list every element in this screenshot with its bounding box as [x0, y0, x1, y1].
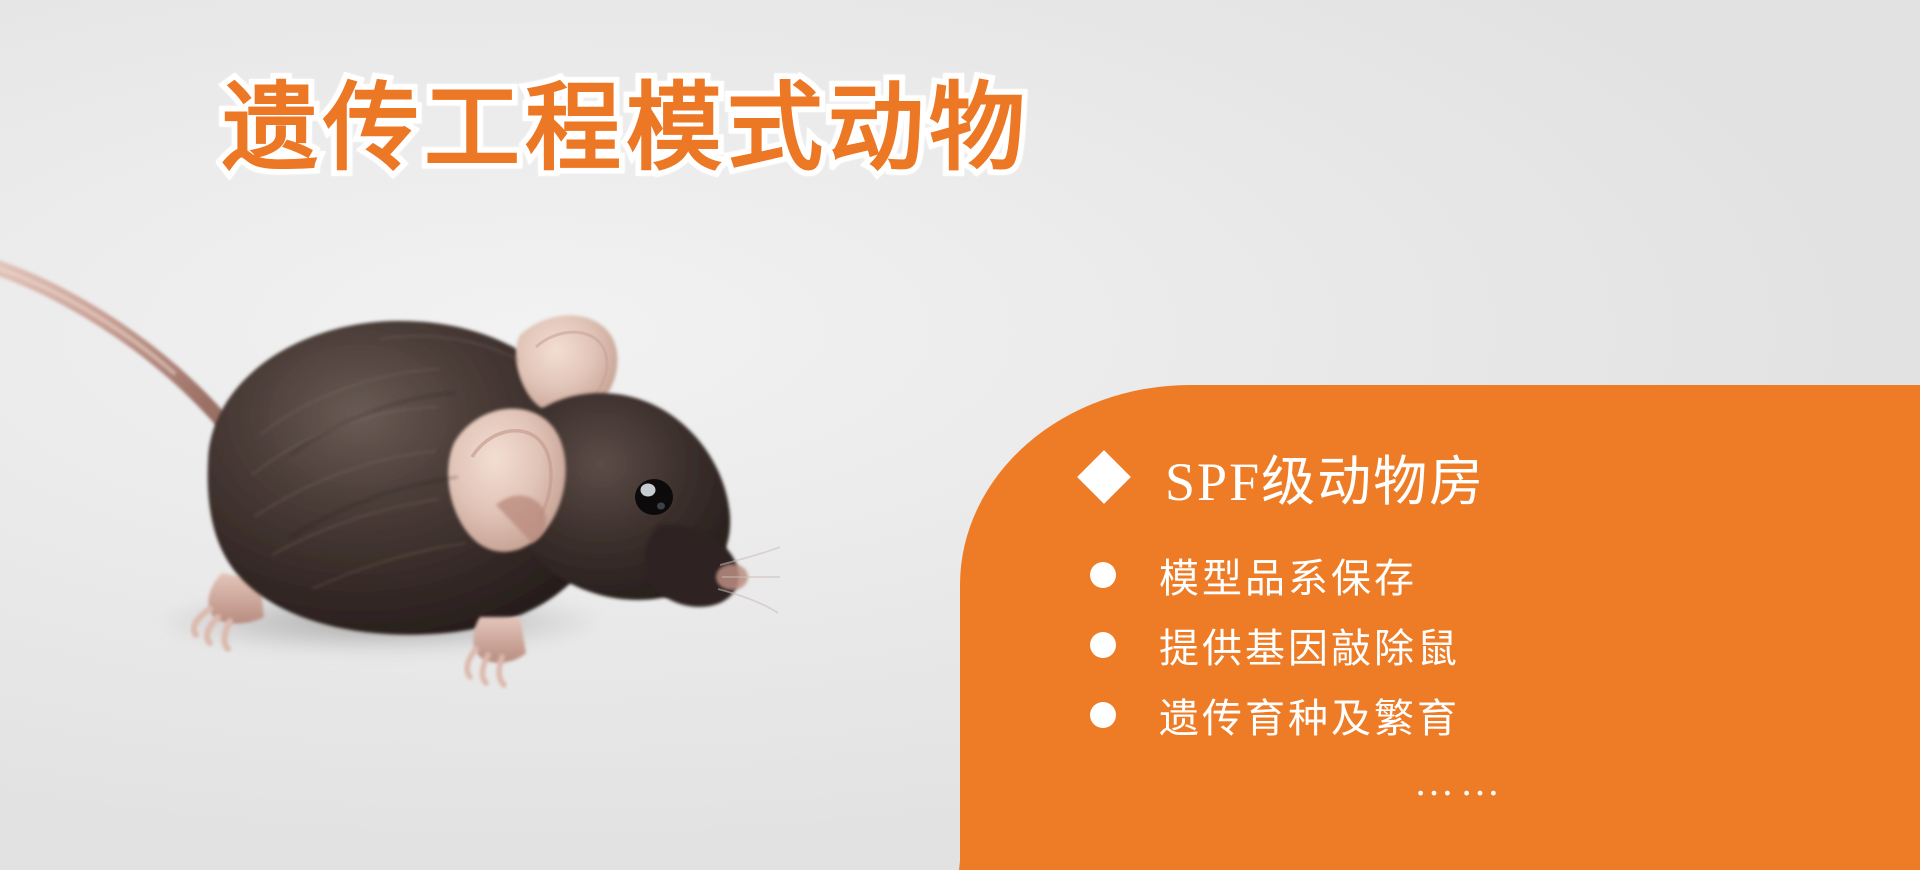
list-item: 遗传育种及繁育 [1085, 686, 1885, 744]
panel-bottom-left-bevel [959, 670, 1019, 870]
list-item-label: 遗传育种及繁育 [1159, 686, 1460, 744]
list-item: 模型品系保存 [1085, 546, 1885, 604]
circle-bullet-icon [1090, 702, 1116, 728]
diamond-bullet-icon [1077, 450, 1131, 504]
circle-bullet-icon [1090, 632, 1116, 658]
feature-panel: SPF级动物房 模型品系保存 提供基因敲除鼠 遗传育种及繁育 …… [960, 385, 1920, 870]
list-item-label: 提供基因敲除鼠 [1159, 616, 1460, 674]
page-title-text: 遗传工程模式动物 [222, 78, 1030, 180]
mouse-illustration-svg [0, 225, 780, 695]
feature-heading-row: SPF级动物房 [1085, 437, 1885, 516]
list-item-label: 模型品系保存 [1159, 546, 1417, 604]
feature-panel-content: SPF级动物房 模型品系保存 提供基因敲除鼠 遗传育种及繁育 …… [1085, 437, 1885, 805]
mouse-tail [0, 257, 248, 455]
lab-mouse-image [0, 225, 780, 695]
circle-bullet-icon [1090, 562, 1116, 588]
feature-heading-text: SPF级动物房 [1165, 437, 1485, 516]
page-title: 遗传工程模式动物 [222, 78, 1030, 180]
promo-banner: 遗传工程模式动物 [0, 0, 1920, 870]
list-item: 提供基因敲除鼠 [1085, 616, 1885, 674]
mouse-eye [635, 479, 673, 515]
more-items-ellipsis: …… [1085, 758, 1885, 805]
